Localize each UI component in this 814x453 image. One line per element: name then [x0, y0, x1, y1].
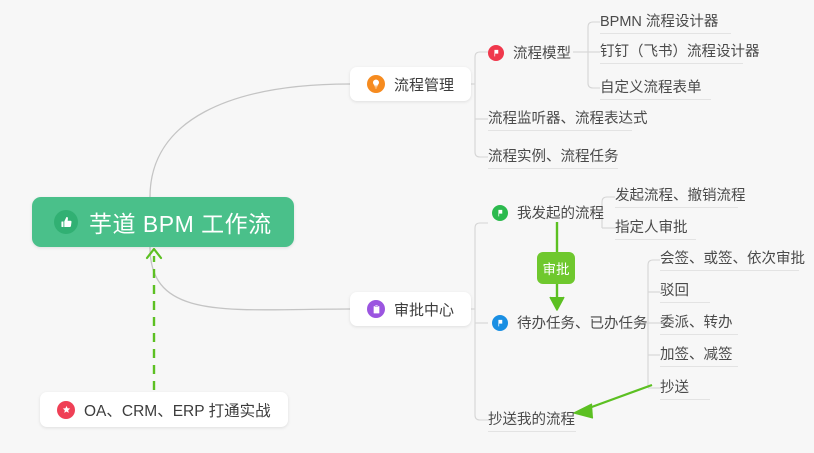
leaf-assignee-approval[interactable]: 指定人审批 [615, 218, 696, 240]
leaf-label-start-cancel-process: 发起流程、撤销流程 [615, 189, 746, 204]
leaf-start-cancel-process[interactable]: 发起流程、撤销流程 [615, 186, 738, 208]
thumbs-up-icon [54, 210, 78, 234]
flag-icon [492, 205, 508, 221]
approval-badge-label: 审批 [543, 258, 570, 278]
flag-icon [488, 45, 504, 61]
leaf-label-countersign-or-sequential: 会签、或签、依次审批 [660, 252, 805, 267]
leaf-process-listener-expression[interactable]: 流程监听器、流程表达式 [488, 109, 632, 131]
leaf-label-reject: 驳回 [660, 284, 689, 299]
branch-label-approval-center: 审批中心 [394, 299, 454, 320]
leaf-bpmn-designer[interactable]: BPMN 流程设计器 [600, 12, 731, 34]
leaf-delegate-transfer[interactable]: 委派、转办 [660, 313, 738, 335]
leaf-custom-process-form[interactable]: 自定义流程表单 [600, 78, 711, 100]
lightbulb-icon [367, 75, 385, 93]
node-label-my-initiated-process: 我发起的流程 [517, 202, 604, 223]
leaf-cc[interactable]: 抄送 [660, 378, 710, 400]
flag-icon [492, 315, 508, 331]
leaf-label-delegate-transfer: 委派、转办 [660, 316, 733, 331]
leaf-process-instance-task[interactable]: 流程实例、流程任务 [488, 147, 618, 169]
branch-node-process-management[interactable]: 流程管理 [350, 67, 471, 101]
node-my-initiated-process[interactable]: 我发起的流程 [492, 202, 604, 223]
root-node[interactable]: 芋道 BPM 工作流 [32, 197, 294, 247]
mindmap-canvas: 芋道 BPM 工作流 流程管理 流程模型 BPMN 流程设计器 钉钉（飞书）流程… [0, 0, 814, 453]
leaf-label-bpmn-designer: BPMN 流程设计器 [600, 15, 718, 30]
footer-node-label: OA、CRM、ERP 打通实战 [84, 399, 271, 421]
clipboard-icon [367, 300, 385, 318]
root-label: 芋道 BPM 工作流 [89, 205, 272, 239]
branch-label-process-management: 流程管理 [394, 74, 454, 95]
leaf-add-remove-sign[interactable]: 加签、减签 [660, 345, 738, 367]
footer-node-integration[interactable]: OA、CRM、ERP 打通实战 [40, 392, 288, 427]
leaf-countersign-or-sequential[interactable]: 会签、或签、依次审批 [660, 249, 799, 271]
star-icon [57, 401, 75, 419]
approval-badge: 审批 [537, 252, 575, 284]
green-diagonal-arrow [574, 385, 652, 418]
leaf-label-add-remove-sign: 加签、减签 [660, 348, 733, 363]
node-label-todo-done-tasks: 待办任务、已办任务 [517, 312, 648, 333]
dashed-green-up-arrow [147, 249, 161, 390]
leaf-cc-to-me-process[interactable]: 抄送我的流程 [488, 410, 576, 432]
branch-node-approval-center[interactable]: 审批中心 [350, 292, 471, 326]
node-process-model[interactable]: 流程模型 [488, 42, 571, 63]
leaf-label-assignee-approval: 指定人审批 [615, 221, 688, 236]
leaf-label-dingtalk-feishu-designer: 钉钉（飞书）流程设计器 [600, 45, 760, 60]
leaf-label-process-instance-task: 流程实例、流程任务 [488, 150, 619, 165]
leaf-label-custom-process-form: 自定义流程表单 [600, 81, 702, 96]
node-label-process-model: 流程模型 [513, 42, 571, 63]
leaf-label-cc-to-me-process: 抄送我的流程 [488, 413, 575, 428]
node-todo-done-tasks[interactable]: 待办任务、已办任务 [492, 312, 648, 333]
leaf-reject[interactable]: 驳回 [660, 281, 710, 303]
leaf-label-process-listener-expression: 流程监听器、流程表达式 [488, 112, 648, 127]
leaf-label-cc: 抄送 [660, 381, 689, 396]
leaf-dingtalk-feishu-designer[interactable]: 钉钉（飞书）流程设计器 [600, 42, 743, 64]
